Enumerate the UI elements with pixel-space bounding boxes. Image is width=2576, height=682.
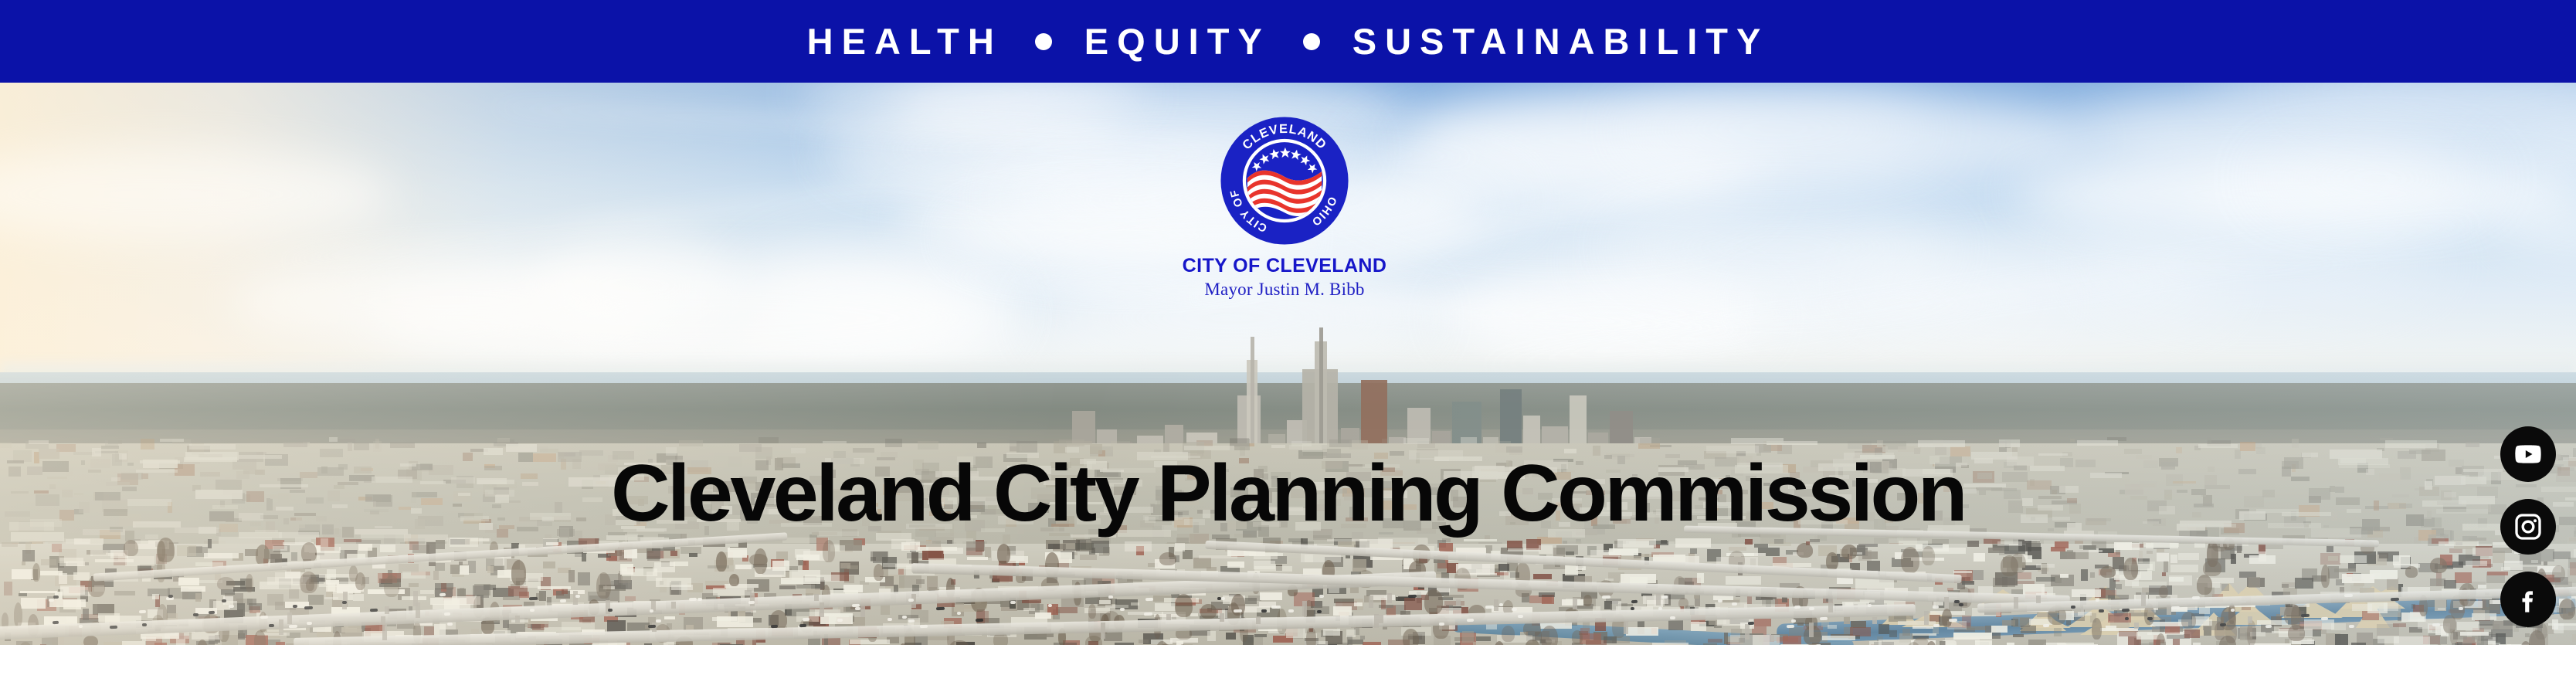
bullet-dot-icon [1303, 33, 1320, 50]
logo-mayor-line: Mayor Justin M. Bibb [1103, 280, 1466, 300]
page-title: Cleveland City Planning Commission [0, 453, 2576, 534]
tagline-word-equity: EQUITY [1084, 23, 1271, 59]
city-of-cleveland-seal-icon: CLEVELAND OHIO CITY OF [1218, 114, 1351, 247]
youtube-icon [2513, 439, 2544, 470]
social-link-instagram[interactable] [2500, 499, 2556, 555]
logo-org-name: CITY OF CLEVELAND [1103, 255, 1466, 277]
facebook-icon [2513, 584, 2544, 615]
social-link-youtube[interactable] [2500, 426, 2556, 482]
page-whitespace [0, 645, 2576, 682]
city-logo-block[interactable]: CLEVELAND OHIO CITY OF [1103, 114, 1466, 307]
instagram-icon [2513, 511, 2544, 542]
tagline-word-health: HEALTH [807, 23, 1003, 59]
bullet-dot-icon [1035, 33, 1052, 50]
social-links [2500, 426, 2556, 627]
page-root: HEALTH EQUITY SUSTAINABILITY [0, 0, 2576, 682]
tagline-word-sustainability: SUSTAINABILITY [1352, 23, 1770, 59]
hero-photo: CLEVELAND OHIO CITY OF [0, 80, 2576, 645]
social-link-facebook[interactable] [2500, 572, 2556, 627]
tagline-banner: HEALTH EQUITY SUSTAINABILITY [0, 0, 2576, 83]
